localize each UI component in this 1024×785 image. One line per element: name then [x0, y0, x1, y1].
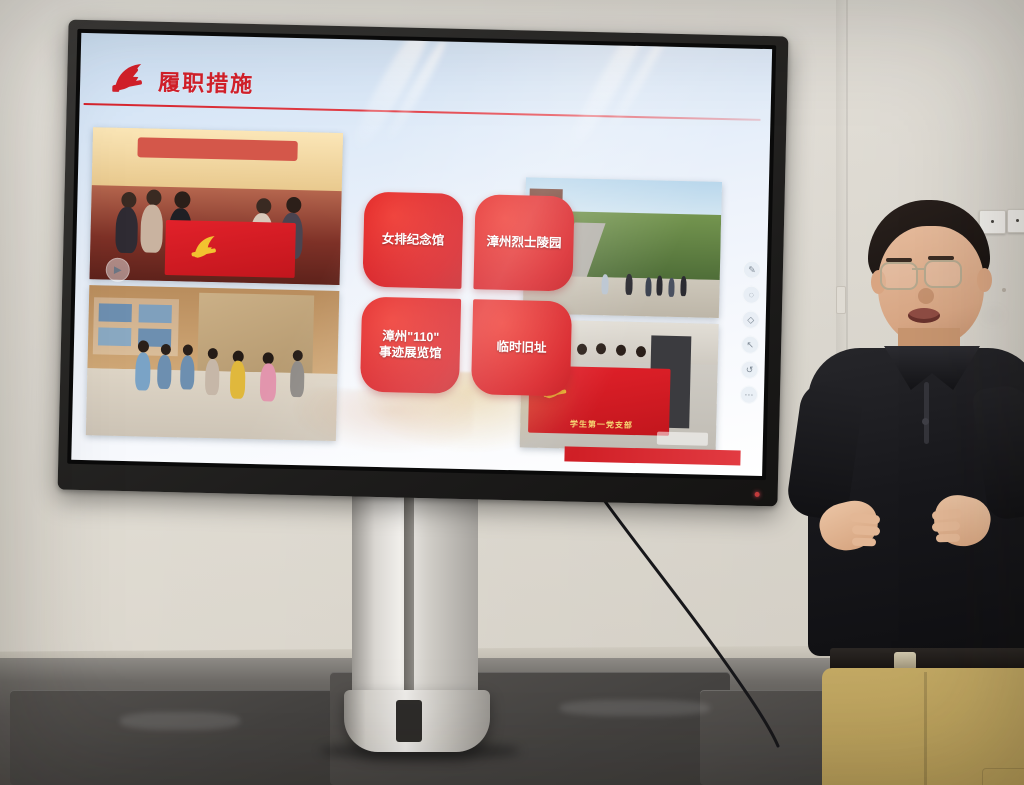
photo-person — [121, 192, 136, 208]
select-icon[interactable]: ↖ — [741, 336, 759, 354]
shape-glyph: ◇ — [747, 314, 754, 325]
presentation-scene: 履职措施 — [0, 0, 1024, 785]
photo-person — [625, 274, 632, 295]
more-glyph: ⋯ — [744, 389, 753, 400]
petal-label: 临时旧址 — [496, 340, 546, 356]
trouser-pocket — [982, 768, 1024, 785]
photo-person — [657, 276, 663, 296]
presenter-ear — [977, 268, 992, 292]
photo-person — [146, 189, 161, 205]
petal-top-left[interactable]: 女排纪念馆 — [362, 192, 463, 289]
pen-icon[interactable]: ✎ — [743, 261, 761, 279]
photo-person — [174, 191, 190, 208]
undo-glyph: ↺ — [746, 364, 754, 375]
photo-person — [160, 344, 170, 355]
four-petal-diagram: 女排纪念馆 漳州烈士陵园 漳州"110" 事迹展览馆 临时旧址 — [360, 192, 575, 397]
chevron-right-icon: ▶ — [114, 264, 122, 275]
eraser-glyph: ◌ — [749, 290, 755, 300]
screen-glare — [345, 33, 439, 157]
slide-canvas[interactable]: 履职措施 — [71, 33, 772, 476]
party-flag — [165, 220, 296, 278]
photo-person — [668, 277, 674, 296]
presenter-nose — [918, 288, 934, 304]
petal-label: 女排纪念馆 — [382, 232, 445, 249]
wheat-decoration — [271, 388, 473, 463]
select-glyph: ↖ — [746, 339, 754, 350]
shape-icon[interactable]: ◇ — [742, 311, 760, 329]
screen-glare — [381, 36, 450, 146]
floor-tile — [10, 690, 340, 785]
floor-reflection — [120, 712, 240, 730]
floor-reflection — [560, 700, 710, 716]
petal-bottom-right[interactable]: 临时旧址 — [471, 299, 572, 396]
presenter-finger — [932, 521, 961, 532]
eraser-icon[interactable]: ◌ — [742, 286, 760, 304]
screen-glare — [603, 33, 680, 140]
petal-top-right[interactable]: 漳州烈士陵园 — [473, 194, 574, 291]
presenter-shirt-button — [922, 418, 929, 425]
photo-person — [229, 360, 245, 398]
eyeglasses-icon — [924, 260, 962, 288]
presenter — [772, 196, 1024, 785]
interactive-display[interactable]: 履职措施 — [58, 20, 789, 507]
photo-person — [680, 276, 686, 296]
photo-person — [157, 354, 172, 388]
petal-label: 漳州"110" 事迹展览馆 — [379, 329, 442, 361]
photo-person — [577, 344, 587, 355]
photo-person — [134, 352, 150, 390]
annotation-toolbar[interactable]: ✎ ◌ ◇ ↖ ↺ ⋯ — [738, 260, 763, 403]
power-led-indicator — [755, 492, 760, 497]
presenter-finger — [852, 538, 876, 547]
presenter-mouth — [908, 308, 940, 323]
stand-column-groove — [404, 494, 414, 694]
photo-person — [645, 277, 651, 296]
eyeglasses-bridge — [912, 268, 924, 270]
title-divider — [84, 103, 761, 121]
slide-title: 履职措施 — [158, 65, 255, 99]
pen-glyph: ✎ — [748, 264, 756, 275]
photo-person — [179, 355, 194, 389]
eyeglasses-icon — [880, 262, 918, 290]
photo-person — [204, 358, 219, 394]
more-icon[interactable]: ⋯ — [740, 386, 758, 404]
stand-base-slot — [396, 700, 422, 742]
photo-person — [256, 198, 271, 214]
presenter-finger — [936, 534, 960, 543]
petal-bottom-left[interactable]: 漳州"110" 事迹展览馆 — [360, 297, 461, 394]
presenter-finger — [852, 525, 881, 536]
screen-glare — [560, 33, 661, 159]
undo-icon[interactable]: ↺ — [740, 361, 758, 379]
stand-column — [352, 494, 478, 698]
photo-top-left — [90, 127, 344, 285]
hammer-and-sickle-icon — [108, 60, 151, 97]
photo-person — [602, 274, 609, 294]
photo-person — [140, 204, 163, 253]
trouser-seam — [924, 672, 927, 785]
presenter-placket — [924, 382, 929, 444]
petal-label: 漳州烈士陵园 — [486, 234, 561, 251]
photo-person — [115, 207, 138, 254]
